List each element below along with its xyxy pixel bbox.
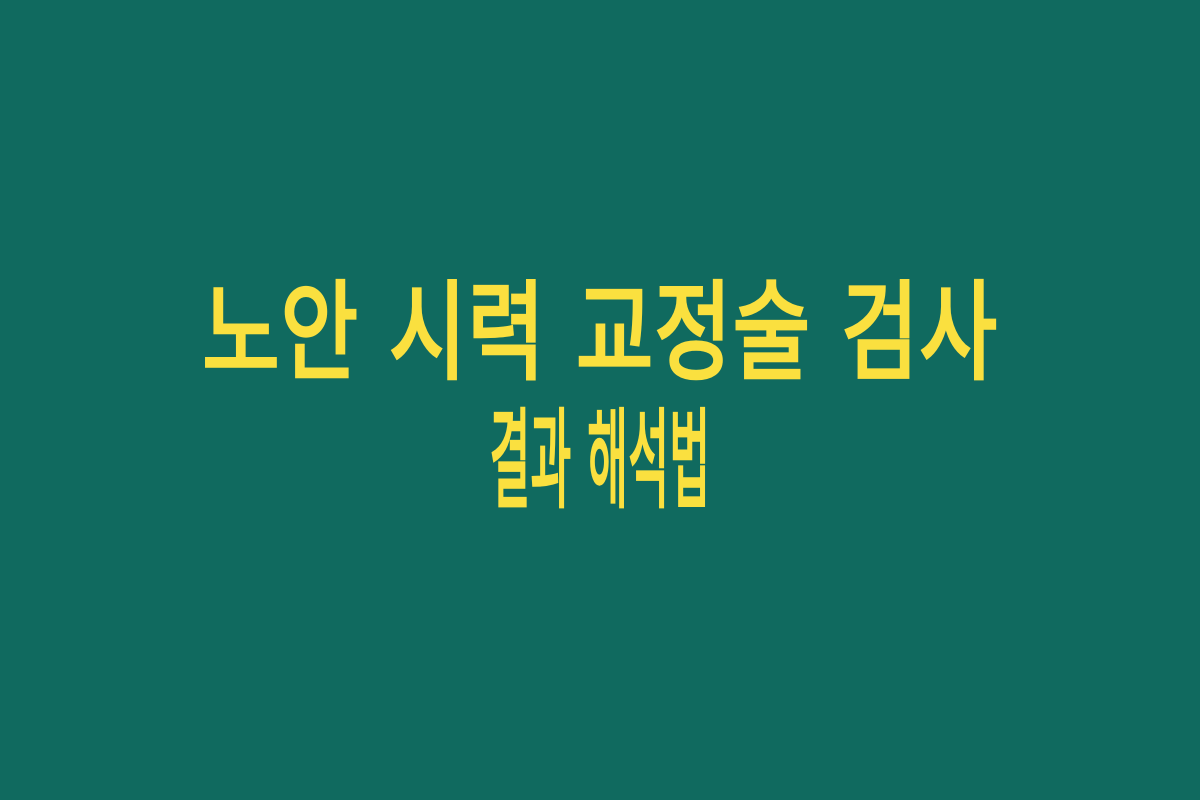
headline-line-2: 결과 해석법: [355, 398, 845, 526]
headline-block: 노안 시력 교정술 검사 결과 해석법: [0, 270, 1200, 526]
title-card: 노안 시력 교정술 검사 결과 해석법: [0, 0, 1200, 800]
headline-line-1: 노안 시력 교정술 검사: [132, 270, 1069, 398]
